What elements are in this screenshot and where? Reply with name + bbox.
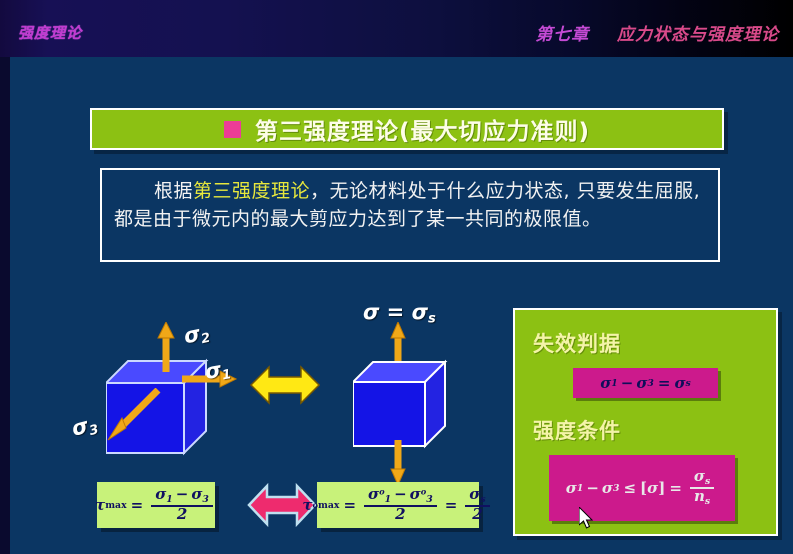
slide-title-bar: 第三强度理论(最大切应力准则) xyxy=(90,108,724,150)
failure-criterion-formula-box: σ1 − σ3 = σs xyxy=(573,368,718,398)
slide-root: 强度理论 第七章 应力状态与强度理论 第三强度理论(最大切应力准则) 根据第三强… xyxy=(0,0,793,554)
tau-sub: max xyxy=(105,500,126,511)
num2-sigma1-sub: 1 xyxy=(385,494,391,505)
num2-sigma3: σ xyxy=(410,485,421,503)
num-sigma1-sub: 1 xyxy=(166,494,172,505)
strength-condition-formula: σ1 − σ3 ≤ [σ] = σs ns xyxy=(566,469,718,506)
cond-minus: − xyxy=(586,479,599,497)
num3-sigma: σ xyxy=(469,485,480,503)
crit-minus: − xyxy=(621,374,634,392)
crit-sigma3-sub: 3 xyxy=(647,378,653,389)
equivalence-arrow-upper-icon xyxy=(249,362,321,408)
sigma3-arrow-icon xyxy=(100,388,164,444)
right-sigma-equals: = xyxy=(387,300,405,324)
num-sigma3: σ xyxy=(191,485,202,503)
tau-symbol: τ xyxy=(95,496,105,514)
cond-sigma-allow: σ xyxy=(647,479,658,497)
crit-sigma3: σ xyxy=(636,374,647,392)
criteria-panel: 失效判据 σ1 − σ3 = σs 强度条件 σ1 − σ3 ≤ [σ] = σ… xyxy=(513,308,778,536)
cond-bracket-open: [ xyxy=(640,479,647,497)
left-edge-strip xyxy=(0,57,10,554)
cond-num-sigma: σ xyxy=(694,467,705,485)
fraction-left: σ1−σ3 2 xyxy=(151,487,213,522)
fraction3-denominator: 2 xyxy=(465,505,489,523)
crit-sigma1: σ xyxy=(600,374,611,392)
cond-den-sub: s xyxy=(705,496,710,507)
minus-sign-2: − xyxy=(394,485,407,503)
fraction-denominator: 2 xyxy=(151,505,213,523)
fraction3-numerator: σs xyxy=(465,487,489,505)
formula-tau-max-right: τomax = σo1−σo3 2 = σs 2 xyxy=(302,487,493,522)
failure-criterion-label: 失效判据 xyxy=(533,328,621,358)
cond-fraction-numerator: σs xyxy=(690,469,714,487)
right-cube-svg xyxy=(353,352,453,452)
num-sigma1: σ xyxy=(155,485,166,503)
sigma2-label: σ2 xyxy=(182,320,212,351)
minus-sign: − xyxy=(176,485,189,503)
formula-box-right: τomax = σo1−σo3 2 = σs 2 xyxy=(317,482,479,528)
statement-highlight: 第三强度理论 xyxy=(193,180,310,202)
num2-sigma3-sub: 3 xyxy=(426,494,432,505)
cond-sigma3-sub: 3 xyxy=(613,483,619,494)
equals-sign: = xyxy=(131,496,144,514)
sigma2-arrow-icon xyxy=(155,322,177,374)
cond-sigma1-sub: 1 xyxy=(577,483,583,494)
num2-sigma1: σ xyxy=(368,485,379,503)
right-sigma-base2: σ xyxy=(412,300,428,324)
failure-criterion-formula: σ1 − σ3 = σs xyxy=(600,374,691,392)
cond-equals: = xyxy=(669,479,682,497)
statement-text-box: 根据第三强度理论，无论材料处于什么应力状态, 只要发生屈服, 都是由于微元内的最… xyxy=(100,168,720,262)
tau0-symbol: τ xyxy=(302,496,312,514)
num-sigma3-sub: 3 xyxy=(202,494,208,505)
fraction2-numerator: σo1−σo3 xyxy=(364,487,437,505)
fraction-numerator: σ1−σ3 xyxy=(151,487,213,505)
slide-header: 强度理论 第七章 应力状态与强度理论 xyxy=(0,0,793,57)
crit-sigmas-sub: s xyxy=(686,378,691,389)
cond-sigma1: σ xyxy=(566,479,577,497)
strength-condition-label: 强度条件 xyxy=(533,415,621,445)
cond-num-sub: s xyxy=(705,476,710,487)
header-chapter-title: 应力状态与强度理论 xyxy=(617,25,779,45)
equals-sign-2: = xyxy=(343,496,356,514)
tau0-sub: max xyxy=(318,500,339,511)
crit-equals: = xyxy=(658,374,671,392)
crit-sigmas: σ xyxy=(674,374,685,392)
header-left-title: 强度理论 xyxy=(18,22,82,43)
crit-sigma1-sub: 1 xyxy=(611,378,617,389)
num3-sigma-sub: s xyxy=(480,494,485,505)
cond-sigma3: σ xyxy=(602,479,613,497)
fraction2-denominator: 2 xyxy=(364,505,437,523)
right-sigma-sub: s xyxy=(428,311,436,326)
cond-le: ≤ xyxy=(623,479,636,497)
cond-fraction: σs ns xyxy=(690,469,714,506)
header-right-title: 第七章 应力状态与强度理论 xyxy=(535,20,779,45)
statement-lead: 根据 xyxy=(154,180,193,202)
header-chapter-label: 第七章 xyxy=(535,25,589,45)
slide-title-text: 第三强度理论(最大切应力准则) xyxy=(255,112,590,146)
strength-condition-formula-box: σ1 − σ3 ≤ [σ] = σs ns xyxy=(549,455,735,521)
formula-box-left: τmax = σ1−σ3 2 xyxy=(97,482,215,528)
formula-tau-max-left: τmax = σ1−σ3 2 xyxy=(95,487,217,522)
mouse-cursor-icon xyxy=(579,507,595,531)
bullet-square-icon xyxy=(224,121,241,138)
cond-bracket-close: ] xyxy=(658,479,665,497)
cond-fraction-denominator: ns xyxy=(690,487,714,507)
right-sigma-base: σ xyxy=(363,300,379,324)
right-cube-down-arrow-icon xyxy=(388,440,408,486)
sigma1-label: σ1 xyxy=(203,356,233,386)
fraction-right-2: σs 2 xyxy=(465,487,489,522)
equals-sign-3: = xyxy=(445,496,458,514)
cond-den-n: n xyxy=(694,487,705,505)
fraction-right-1: σo1−σo3 2 xyxy=(364,487,437,522)
statement-text: 根据第三强度理论，无论材料处于什么应力状态, 只要发生屈服, 都是由于微元内的最… xyxy=(114,177,706,233)
